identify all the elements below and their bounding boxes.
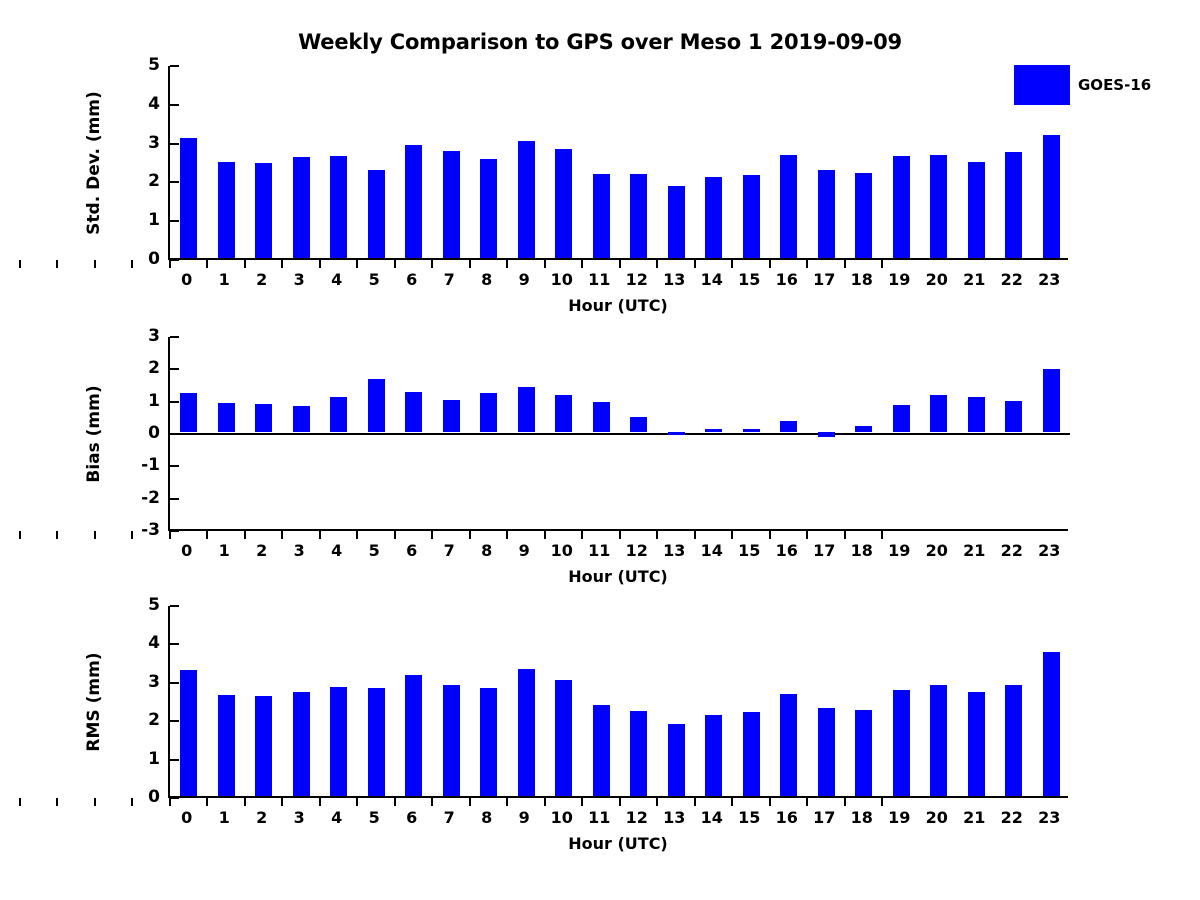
x-tick-rms-14: [544, 798, 546, 806]
x-tick-std-dev-22: [844, 260, 846, 268]
x-tick-rms-16: [619, 798, 621, 806]
x-tick-rms-9: [356, 798, 358, 806]
bar-rms-hour-11: [593, 705, 610, 796]
bar-rms-hour-2: [255, 696, 272, 796]
x-tick-rms-1: [56, 798, 58, 806]
bar-std-dev-hour-16: [780, 155, 797, 258]
x-tick-std-dev-7: [281, 260, 283, 268]
x-tick-label-bias-6: 6: [395, 543, 429, 559]
x-tick-std-dev-13: [506, 260, 508, 268]
x-tick-label-std-dev-23: 23: [1032, 272, 1066, 288]
bar-bias-hour-8: [480, 393, 497, 432]
bar-rms-hour-17: [818, 708, 835, 796]
legend-label-goes16: GOES-16: [1078, 76, 1151, 94]
bar-std-dev-hour-1: [218, 162, 235, 258]
y-tick-label-rms-3: 3: [114, 674, 160, 691]
x-tick-std-dev-11: [431, 260, 433, 268]
x-tick-bias-11: [431, 531, 433, 539]
x-tick-label-rms-18: 18: [845, 810, 879, 826]
bar-bias-hour-3: [293, 406, 310, 433]
x-tick-label-rms-22: 22: [995, 810, 1029, 826]
bar-std-dev-hour-0: [180, 138, 197, 258]
x-tick-bias-7: [281, 531, 283, 539]
plot-inner-std-dev: [170, 66, 1068, 258]
bar-std-dev-hour-9: [518, 141, 535, 258]
x-tick-label-std-dev-13: 13: [657, 272, 691, 288]
x-tick-std-dev-1: [56, 260, 58, 268]
bar-std-dev-hour-23: [1043, 135, 1060, 258]
x-tick-label-bias-9: 9: [507, 543, 541, 559]
x-tick-std-dev-8: [319, 260, 321, 268]
bar-rms-hour-5: [368, 688, 385, 796]
plot-inner-rms: [170, 606, 1068, 796]
bar-bias-hour-5: [368, 379, 385, 432]
x-tick-label-bias-1: 1: [207, 543, 241, 559]
x-tick-std-dev-10: [394, 260, 396, 268]
bar-rms-hour-21: [968, 692, 985, 796]
x-tick-label-std-dev-20: 20: [920, 272, 954, 288]
x-tick-bias-20: [769, 531, 771, 539]
y-tick-label-rms-1: 1: [114, 751, 160, 768]
bar-rms-hour-7: [443, 685, 460, 796]
y-tick-bias-3: [170, 433, 179, 435]
bar-rms-hour-8: [480, 688, 497, 796]
x-tick-label-bias-7: 7: [432, 543, 466, 559]
x-tick-std-dev-23: [881, 260, 883, 268]
plot-area-std-dev: [168, 66, 1068, 260]
x-tick-std-dev-21: [806, 260, 808, 268]
x-tick-label-bias-10: 10: [545, 543, 579, 559]
y-tick-label-std-dev-1: 1: [114, 212, 160, 229]
x-tick-label-std-dev-7: 7: [432, 272, 466, 288]
x-tick-rms-20: [769, 798, 771, 806]
x-tick-label-bias-16: 16: [770, 543, 804, 559]
x-tick-bias-6: [244, 531, 246, 539]
y-tick-bias-1: [170, 498, 179, 500]
x-tick-rms-5: [206, 798, 208, 806]
x-tick-rms-4: [169, 798, 171, 806]
plot-area-bias: [168, 337, 1068, 531]
y-tick-std-dev-1: [170, 220, 179, 222]
y-tick-bias-4: [170, 401, 179, 403]
bar-bias-hour-13: [668, 432, 685, 435]
y-tick-std-dev-2: [170, 181, 179, 183]
x-tick-label-rms-4: 4: [320, 810, 354, 826]
x-tick-label-std-dev-19: 19: [882, 272, 916, 288]
y-axis-title-rms: RMS (mm): [84, 576, 104, 828]
bar-rms-hour-16: [780, 694, 797, 796]
y-tick-label-bias-5: 2: [114, 360, 160, 377]
y-tick-bias-0: [170, 530, 179, 532]
x-tick-label-rms-7: 7: [432, 810, 466, 826]
x-tick-label-std-dev-18: 18: [845, 272, 879, 288]
bar-bias-hour-4: [330, 397, 347, 432]
bar-bias-hour-15: [743, 429, 760, 432]
x-tick-label-std-dev-8: 8: [470, 272, 504, 288]
bar-rms-hour-20: [930, 685, 947, 796]
x-tick-std-dev-14: [544, 260, 546, 268]
x-tick-std-dev-20: [769, 260, 771, 268]
x-tick-bias-14: [544, 531, 546, 539]
x-tick-label-rms-6: 6: [395, 810, 429, 826]
x-tick-std-dev-18: [694, 260, 696, 268]
zero-line-bias: [170, 433, 1070, 435]
bar-std-dev-hour-8: [480, 159, 497, 258]
bar-std-dev-hour-17: [818, 170, 835, 258]
plot-area-rms: [168, 606, 1068, 798]
bar-std-dev-hour-10: [555, 149, 572, 258]
x-tick-rms-23: [881, 798, 883, 806]
y-tick-std-dev-5: [170, 65, 179, 67]
x-tick-rms-17: [656, 798, 658, 806]
x-tick-label-bias-5: 5: [357, 543, 391, 559]
x-tick-label-rms-12: 12: [620, 810, 654, 826]
bar-std-dev-hour-15: [743, 175, 760, 258]
x-tick-label-bias-15: 15: [732, 543, 766, 559]
x-tick-label-bias-20: 20: [920, 543, 954, 559]
x-tick-label-rms-9: 9: [507, 810, 541, 826]
y-tick-label-bias-1: -2: [114, 490, 160, 507]
x-tick-bias-15: [581, 531, 583, 539]
x-tick-rms-11: [431, 798, 433, 806]
x-tick-rms-10: [394, 798, 396, 806]
x-tick-label-std-dev-0: 0: [170, 272, 204, 288]
x-tick-label-bias-21: 21: [957, 543, 991, 559]
x-tick-bias-12: [469, 531, 471, 539]
x-tick-bias-8: [319, 531, 321, 539]
y-tick-label-rms-5: 5: [114, 597, 160, 614]
bar-rms-hour-6: [405, 675, 422, 796]
x-tick-bias-22: [844, 531, 846, 539]
bar-rms-hour-19: [893, 690, 910, 796]
y-tick-label-bias-6: 3: [114, 328, 160, 345]
x-tick-rms-0: [19, 798, 21, 806]
y-tick-label-rms-2: 2: [114, 712, 160, 729]
x-tick-rms-18: [694, 798, 696, 806]
x-tick-label-rms-14: 14: [695, 810, 729, 826]
y-tick-label-std-dev-0: 0: [114, 251, 160, 268]
y-tick-label-bias-0: -3: [114, 522, 160, 539]
plot-inner-bias: [170, 337, 1068, 529]
x-tick-label-rms-20: 20: [920, 810, 954, 826]
bar-rms-hour-3: [293, 692, 310, 796]
bar-rms-hour-18: [855, 710, 872, 796]
x-tick-label-std-dev-6: 6: [395, 272, 429, 288]
x-tick-label-bias-18: 18: [845, 543, 879, 559]
x-tick-label-bias-14: 14: [695, 543, 729, 559]
x-tick-label-std-dev-9: 9: [507, 272, 541, 288]
x-tick-label-std-dev-14: 14: [695, 272, 729, 288]
bar-std-dev-hour-3: [293, 157, 310, 258]
x-tick-bias-23: [881, 531, 883, 539]
bar-std-dev-hour-18: [855, 173, 872, 258]
x-tick-label-std-dev-11: 11: [582, 272, 616, 288]
x-tick-label-bias-0: 0: [170, 543, 204, 559]
x-axis-title-bias: Hour (UTC): [168, 567, 1068, 586]
x-tick-bias-0: [19, 531, 21, 539]
bar-bias-hour-2: [255, 404, 272, 432]
x-tick-label-std-dev-1: 1: [207, 272, 241, 288]
x-tick-label-std-dev-5: 5: [357, 272, 391, 288]
bar-bias-hour-22: [1005, 401, 1022, 432]
x-tick-bias-1: [56, 531, 58, 539]
bar-std-dev-hour-2: [255, 163, 272, 258]
x-tick-bias-5: [206, 531, 208, 539]
x-tick-label-rms-0: 0: [170, 810, 204, 826]
bar-bias-hour-21: [968, 397, 985, 432]
bar-rms-hour-22: [1005, 685, 1022, 796]
x-tick-label-rms-8: 8: [470, 810, 504, 826]
x-tick-std-dev-12: [469, 260, 471, 268]
x-tick-std-dev-6: [244, 260, 246, 268]
y-tick-label-std-dev-5: 5: [114, 57, 160, 74]
y-tick-label-bias-2: -1: [114, 457, 160, 474]
x-tick-rms-7: [281, 798, 283, 806]
x-tick-rms-15: [581, 798, 583, 806]
bar-bias-hour-12: [630, 417, 647, 432]
bar-bias-hour-16: [780, 421, 797, 432]
x-tick-bias-13: [506, 531, 508, 539]
x-tick-bias-18: [694, 531, 696, 539]
x-tick-std-dev-9: [356, 260, 358, 268]
bar-rms-hour-23: [1043, 652, 1060, 796]
bar-std-dev-hour-5: [368, 170, 385, 258]
x-tick-label-rms-13: 13: [657, 810, 691, 826]
y-tick-bias-2: [170, 465, 179, 467]
x-tick-label-rms-2: 2: [245, 810, 279, 826]
y-tick-label-bias-4: 1: [114, 393, 160, 410]
y-tick-label-std-dev-3: 3: [114, 135, 160, 152]
y-tick-rms-0: [170, 797, 179, 799]
figure-root: Weekly Comparison to GPS over Meso 1 201…: [0, 0, 1200, 900]
y-tick-rms-2: [170, 720, 179, 722]
x-tick-rms-6: [244, 798, 246, 806]
bar-std-dev-hour-21: [968, 162, 985, 258]
bar-rms-hour-12: [630, 711, 647, 796]
y-tick-rms-5: [170, 605, 179, 607]
x-tick-rms-13: [506, 798, 508, 806]
x-tick-label-std-dev-22: 22: [995, 272, 1029, 288]
y-tick-bias-6: [170, 336, 179, 338]
y-tick-label-std-dev-4: 4: [114, 96, 160, 113]
x-tick-std-dev-5: [206, 260, 208, 268]
x-tick-bias-19: [731, 531, 733, 539]
y-tick-std-dev-4: [170, 104, 179, 106]
bar-bias-hour-18: [855, 426, 872, 432]
bar-bias-hour-9: [518, 387, 535, 432]
bar-bias-hour-19: [893, 405, 910, 432]
y-axis-title-std-dev: Std. Dev. (mm): [84, 36, 104, 290]
y-tick-bias-5: [170, 368, 179, 370]
bar-rms-hour-15: [743, 712, 760, 796]
x-tick-bias-16: [619, 531, 621, 539]
x-tick-std-dev-0: [19, 260, 21, 268]
x-axis-title-std-dev: Hour (UTC): [168, 296, 1068, 315]
bar-bias-hour-14: [705, 429, 722, 432]
x-tick-label-rms-19: 19: [882, 810, 916, 826]
bar-std-dev-hour-4: [330, 156, 347, 258]
bar-std-dev-hour-13: [668, 186, 685, 258]
x-tick-label-rms-5: 5: [357, 810, 391, 826]
bar-rms-hour-14: [705, 715, 722, 796]
x-tick-std-dev-19: [731, 260, 733, 268]
bar-std-dev-hour-7: [443, 151, 460, 258]
x-tick-label-bias-12: 12: [620, 543, 654, 559]
bar-bias-hour-7: [443, 400, 460, 432]
y-tick-rms-3: [170, 682, 179, 684]
bar-std-dev-hour-19: [893, 156, 910, 258]
x-tick-std-dev-3: [131, 260, 133, 268]
bar-std-dev-hour-12: [630, 174, 647, 258]
bar-rms-hour-4: [330, 687, 347, 796]
y-tick-label-bias-3: 0: [114, 425, 160, 442]
bar-bias-hour-6: [405, 392, 422, 432]
x-tick-rms-22: [844, 798, 846, 806]
x-tick-rms-19: [731, 798, 733, 806]
x-tick-label-std-dev-4: 4: [320, 272, 354, 288]
y-tick-label-rms-4: 4: [114, 635, 160, 652]
x-tick-label-bias-11: 11: [582, 543, 616, 559]
bar-bias-hour-11: [593, 402, 610, 432]
x-tick-label-bias-22: 22: [995, 543, 1029, 559]
y-tick-label-std-dev-2: 2: [114, 173, 160, 190]
x-tick-label-bias-2: 2: [245, 543, 279, 559]
y-tick-rms-1: [170, 759, 179, 761]
x-tick-rms-3: [131, 798, 133, 806]
y-tick-rms-4: [170, 643, 179, 645]
bar-rms-hour-10: [555, 680, 572, 796]
x-tick-label-rms-15: 15: [732, 810, 766, 826]
bar-std-dev-hour-22: [1005, 152, 1022, 258]
x-tick-label-std-dev-3: 3: [282, 272, 316, 288]
bar-rms-hour-13: [668, 724, 685, 796]
x-tick-rms-8: [319, 798, 321, 806]
bar-bias-hour-20: [930, 395, 947, 432]
x-tick-bias-21: [806, 531, 808, 539]
x-tick-label-std-dev-10: 10: [545, 272, 579, 288]
bar-rms-hour-9: [518, 669, 535, 796]
bar-rms-hour-0: [180, 670, 197, 796]
x-tick-std-dev-15: [581, 260, 583, 268]
x-tick-label-bias-17: 17: [807, 543, 841, 559]
x-tick-label-bias-23: 23: [1032, 543, 1066, 559]
x-tick-std-dev-4: [169, 260, 171, 268]
x-tick-label-std-dev-2: 2: [245, 272, 279, 288]
x-tick-bias-17: [656, 531, 658, 539]
bar-std-dev-hour-6: [405, 145, 422, 258]
x-tick-label-rms-11: 11: [582, 810, 616, 826]
x-tick-label-std-dev-16: 16: [770, 272, 804, 288]
x-tick-label-bias-8: 8: [470, 543, 504, 559]
bar-bias-hour-1: [218, 403, 235, 432]
x-tick-label-std-dev-21: 21: [957, 272, 991, 288]
bar-bias-hour-0: [180, 393, 197, 432]
x-tick-bias-10: [394, 531, 396, 539]
x-tick-label-rms-23: 23: [1032, 810, 1066, 826]
x-tick-std-dev-17: [656, 260, 658, 268]
bar-bias-hour-17: [818, 432, 835, 437]
x-tick-bias-3: [131, 531, 133, 539]
x-tick-label-rms-3: 3: [282, 810, 316, 826]
page-title: Weekly Comparison to GPS over Meso 1 201…: [0, 30, 1200, 54]
x-tick-label-std-dev-17: 17: [807, 272, 841, 288]
bar-bias-hour-10: [555, 395, 572, 432]
x-tick-label-rms-10: 10: [545, 810, 579, 826]
y-tick-std-dev-0: [170, 259, 179, 261]
x-tick-label-rms-16: 16: [770, 810, 804, 826]
bar-std-dev-hour-14: [705, 177, 722, 258]
x-tick-label-bias-3: 3: [282, 543, 316, 559]
x-tick-bias-4: [169, 531, 171, 539]
x-tick-label-rms-17: 17: [807, 810, 841, 826]
x-tick-rms-12: [469, 798, 471, 806]
x-tick-bias-9: [356, 531, 358, 539]
x-tick-label-rms-21: 21: [957, 810, 991, 826]
x-tick-rms-21: [806, 798, 808, 806]
x-tick-label-std-dev-12: 12: [620, 272, 654, 288]
x-axis-title-rms: Hour (UTC): [168, 834, 1068, 853]
bar-bias-hour-23: [1043, 369, 1060, 432]
bar-std-dev-hour-11: [593, 174, 610, 258]
y-tick-std-dev-3: [170, 143, 179, 145]
x-tick-label-bias-4: 4: [320, 543, 354, 559]
y-tick-label-rms-0: 0: [114, 789, 160, 806]
bar-rms-hour-1: [218, 695, 235, 796]
x-tick-label-rms-1: 1: [207, 810, 241, 826]
x-tick-label-std-dev-15: 15: [732, 272, 766, 288]
x-tick-label-bias-19: 19: [882, 543, 916, 559]
bar-std-dev-hour-20: [930, 155, 947, 258]
x-tick-label-bias-13: 13: [657, 543, 691, 559]
x-tick-std-dev-16: [619, 260, 621, 268]
y-axis-title-bias: Bias (mm): [84, 307, 104, 561]
